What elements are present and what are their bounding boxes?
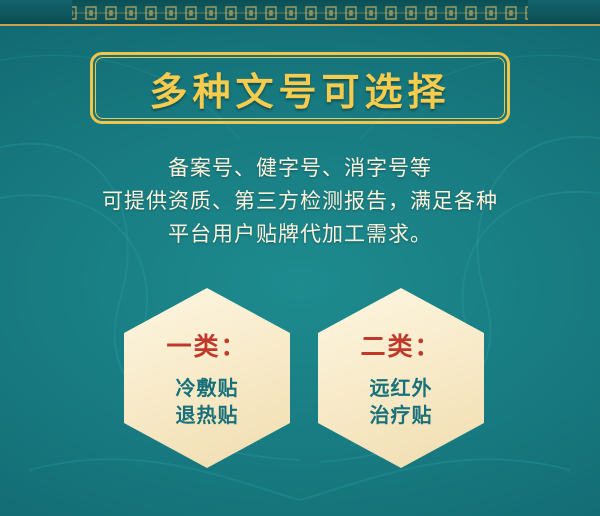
category-two-heading: 二类： [360,327,441,363]
page-title: 多种文号可选择 [90,52,510,124]
category-one-heading: 一类： [166,327,247,363]
category-hexagon-class-one: 一类： 冷敷贴 退热贴 [124,288,290,468]
band-side-left [0,0,72,26]
band-side-right [528,0,600,26]
description-line-3: 平台用户贴牌代加工需求。 [0,218,600,251]
promo-poster: 多种文号可选择 备案号、健字号、消字号等 可提供资质、第三方检测报告，满足各种 … [0,0,600,516]
category-one-item-2: 退热贴 [176,402,239,429]
top-ornament-band [0,0,600,26]
description-paragraph: 备案号、健字号、消字号等 可提供资质、第三方检测报告，满足各种 平台用户贴牌代加… [0,152,600,251]
description-line-2: 可提供资质、第三方检测报告，满足各种 [0,185,600,218]
title-plaque: 多种文号可选择 [90,52,510,124]
description-line-1: 备案号、健字号、消字号等 [0,152,600,185]
category-one-item-1: 冷敷贴 [176,375,239,402]
category-hexagons: 一类： 冷敷贴 退热贴 二类： 远红外 治疗贴 [0,288,600,468]
category-two-item-2: 治疗贴 [370,402,433,429]
category-hexagon-class-two: 二类： 远红外 治疗贴 [318,288,484,468]
band-pattern-icon [0,3,600,23]
category-two-item-1: 远红外 [370,375,433,402]
